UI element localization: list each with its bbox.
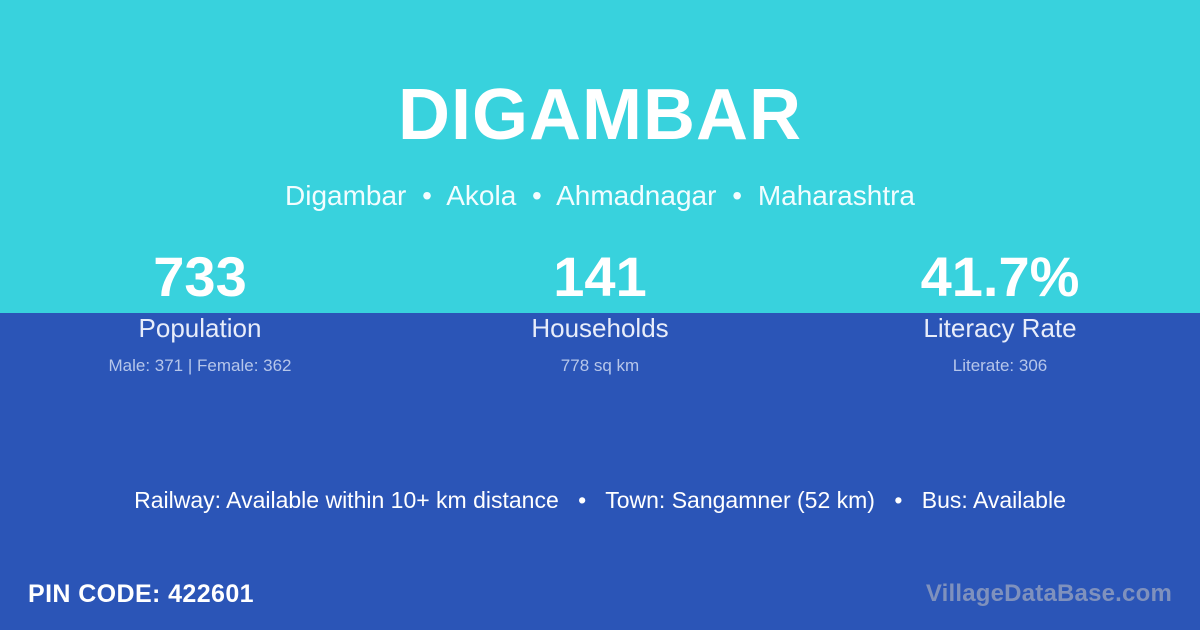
stat-population: 733 Population Male: 371 | Female: 362 <box>0 246 400 378</box>
stat-value: 41.7% <box>800 246 1200 308</box>
facilities-row: Railway: Available within 10+ km distanc… <box>0 484 1200 516</box>
pin-code: PIN CODE: 422601 <box>28 582 254 607</box>
stat-sub: 778 sq km <box>400 354 800 378</box>
village-info-card: DIGAMBAR Digambar • Akola • Ahmadnagar •… <box>0 0 1200 630</box>
stat-households: 141 Households 778 sq km <box>400 246 800 378</box>
breadcrumb-district: Ahmadnagar <box>556 180 716 211</box>
facility-separator: • <box>881 487 915 513</box>
footer-bar: PIN CODE: 422601 VillageDataBase.com <box>0 564 1200 630</box>
breadcrumb-village: Digambar <box>285 180 406 211</box>
stat-value: 733 <box>0 246 400 308</box>
breadcrumb: Digambar • Akola • Ahmadnagar • Maharash… <box>0 182 1200 210</box>
breadcrumb-subdistrict: Akola <box>446 180 516 211</box>
stat-label: Literacy Rate <box>800 311 1200 345</box>
facility-separator: • <box>565 487 599 513</box>
breadcrumb-separator: • <box>524 180 550 211</box>
stat-label: Households <box>400 311 800 345</box>
stat-sub: Male: 371 | Female: 362 <box>0 354 400 378</box>
stat-value: 141 <box>400 246 800 308</box>
page-title: DIGAMBAR <box>0 79 1200 151</box>
stats-row: 733 Population Male: 371 | Female: 362 1… <box>0 246 1200 378</box>
breadcrumb-state: Maharashtra <box>758 180 915 211</box>
breadcrumb-separator: • <box>414 180 440 211</box>
breadcrumb-separator: • <box>724 180 750 211</box>
stat-sub: Literate: 306 <box>800 354 1200 378</box>
facility-bus: Bus: Available <box>922 487 1066 513</box>
facility-town: Town: Sangamner (52 km) <box>605 487 875 513</box>
site-brand: VillageDataBase.com <box>926 582 1172 606</box>
facility-railway: Railway: Available within 10+ km distanc… <box>134 487 559 513</box>
stat-label: Population <box>0 311 400 345</box>
stat-literacy-rate: 41.7% Literacy Rate Literate: 306 <box>800 246 1200 378</box>
